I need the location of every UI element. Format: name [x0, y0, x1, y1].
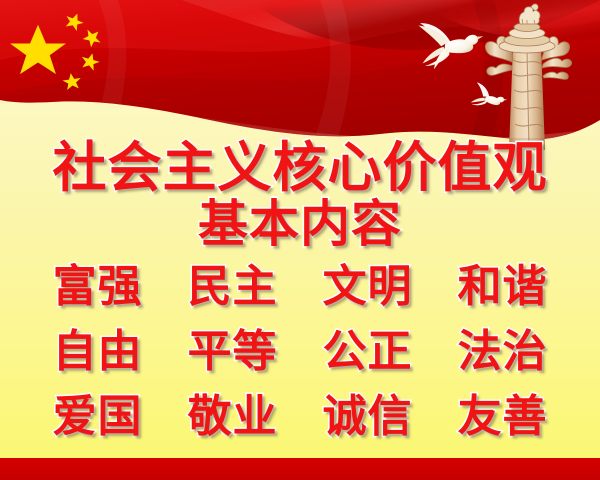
page-title-line-2: 基本内容: [0, 196, 600, 252]
value-word: 法治: [435, 325, 570, 379]
value-word: 自由: [30, 325, 165, 379]
value-word: 平等: [165, 325, 300, 379]
value-word: 和谐: [435, 260, 570, 314]
value-word: 诚信: [300, 390, 435, 444]
value-word: 民主: [165, 260, 300, 314]
poster-canvas: 社会主义核心价值观 基本内容 富强 民主 文明 和谐 自由 平等 公正 法治 爱…: [0, 0, 600, 480]
value-word: 友善: [435, 390, 570, 444]
page-title-line-1: 社会主义核心价值观: [0, 138, 600, 198]
value-word: 公正: [300, 325, 435, 379]
values-row-3: 爱国 敬业 诚信 友善: [30, 390, 570, 444]
text-layer: 社会主义核心价值观 基本内容 富强 民主 文明 和谐 自由 平等 公正 法治 爱…: [0, 0, 600, 480]
values-row-1: 富强 民主 文明 和谐: [30, 260, 570, 314]
value-word: 爱国: [30, 390, 165, 444]
value-word: 文明: [300, 260, 435, 314]
value-word: 富强: [30, 260, 165, 314]
bottom-red-bar: [0, 458, 600, 480]
values-row-2: 自由 平等 公正 法治: [30, 325, 570, 379]
value-word: 敬业: [165, 390, 300, 444]
